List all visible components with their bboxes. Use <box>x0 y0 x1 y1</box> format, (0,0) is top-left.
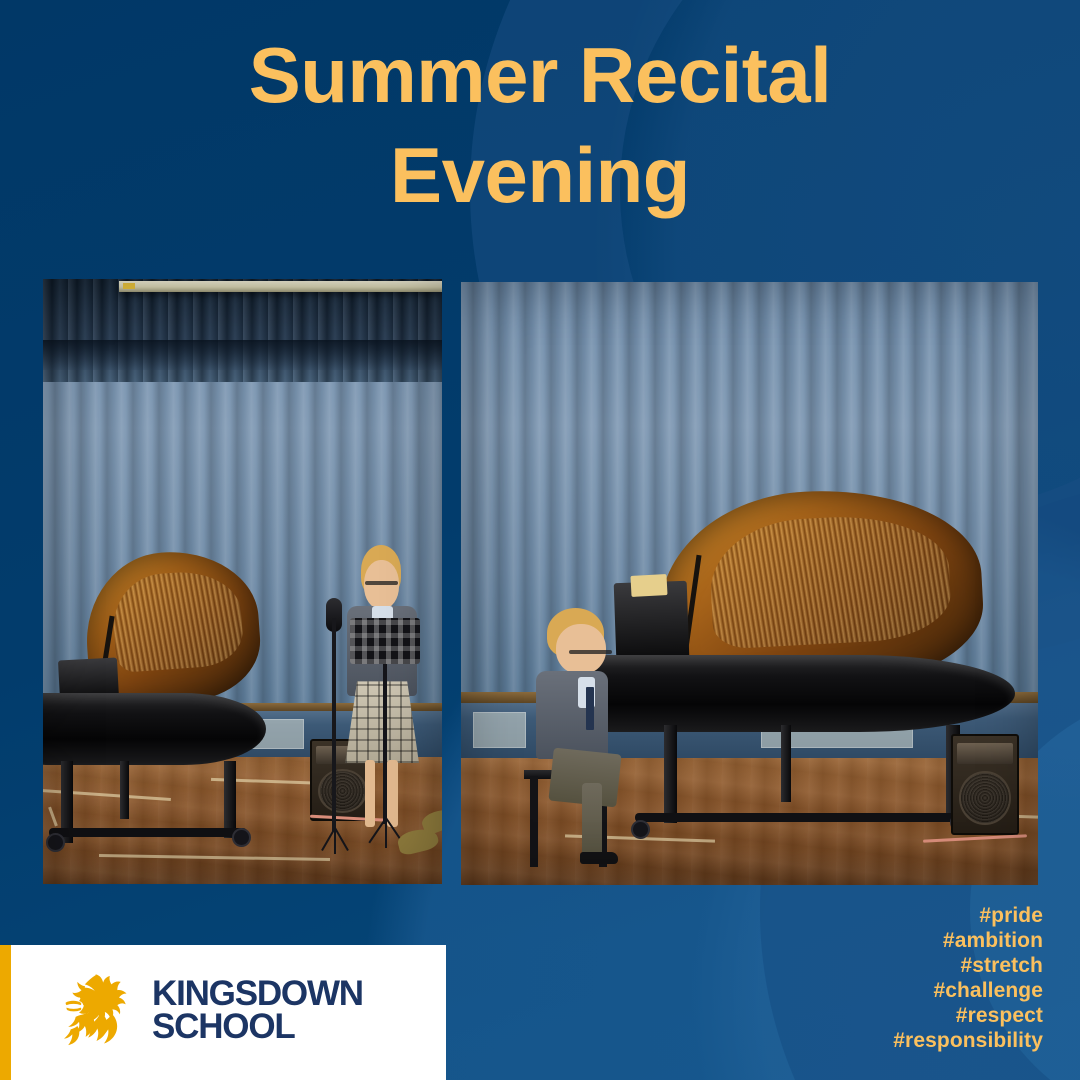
hashtag-item: #stretch <box>893 953 1043 978</box>
microphone-pole <box>332 618 336 832</box>
poster-title: Summer Recital Evening <box>0 26 1080 226</box>
title-line-1: Summer Recital <box>0 26 1080 126</box>
mic-tripod-leg <box>334 828 336 854</box>
music-stand-leg <box>385 818 387 848</box>
pianist-tie <box>586 687 594 729</box>
wordmark-line-1: KINGSDOWN <box>152 978 363 1010</box>
piano-strings <box>708 512 953 650</box>
music-stand <box>350 618 420 848</box>
pianist-glasses <box>569 650 611 654</box>
piano-leg <box>120 761 129 819</box>
stage-curtain-valance <box>43 340 442 370</box>
ceiling-light-icon <box>119 281 442 292</box>
piano-strings <box>110 569 245 674</box>
piano-caster <box>232 828 251 847</box>
piano-body <box>43 693 266 766</box>
wordmark-line-2: SCHOOL <box>152 1011 363 1043</box>
hashtag-item: #challenge <box>893 978 1043 1003</box>
logo-gold-accent-bar <box>0 945 11 1080</box>
performer-glasses <box>365 581 398 585</box>
hashtag-item: #pride <box>893 903 1043 928</box>
hashtag-item: #respect <box>893 1003 1043 1028</box>
piano-leg <box>224 761 236 838</box>
music-stand-desk <box>350 618 420 664</box>
pianist-head <box>556 624 606 674</box>
school-logo-card: KINGSDOWN SCHOOL <box>0 945 446 1080</box>
poster-canvas: Summer Recital Evening <box>0 0 1080 1080</box>
piano-leg <box>781 725 791 802</box>
music-stand-pole <box>383 664 387 824</box>
piano-body <box>571 655 1015 732</box>
amplifier-control-panel <box>957 743 1013 764</box>
sheet-music <box>631 574 668 597</box>
floor-marking <box>99 854 330 861</box>
title-line-2: Evening <box>0 126 1080 226</box>
hashtag-item: #responsibility <box>893 1028 1043 1053</box>
photo-left-recital <box>43 279 442 884</box>
hashtag-item: #ambition <box>893 928 1043 953</box>
school-wordmark: KINGSDOWN SCHOOL <box>152 978 363 1042</box>
piano-dolly <box>635 813 982 822</box>
amplifier-speaker-grill <box>959 771 1011 825</box>
piano-dolly <box>49 828 247 837</box>
hashtag-list: #pride #ambition #stretch #challenge #re… <box>893 903 1043 1053</box>
grand-piano <box>43 606 266 848</box>
student-pianist <box>536 608 628 873</box>
wall-panel <box>473 712 527 748</box>
piano-caster <box>631 820 650 839</box>
photo-right-pianist <box>461 282 1038 885</box>
pianist-shoe <box>580 852 618 864</box>
amplifier <box>951 734 1018 834</box>
pianist-blazer <box>536 671 608 759</box>
piano-leg <box>664 725 677 823</box>
lion-head-icon <box>52 971 136 1051</box>
pianist-trousers <box>582 783 602 857</box>
